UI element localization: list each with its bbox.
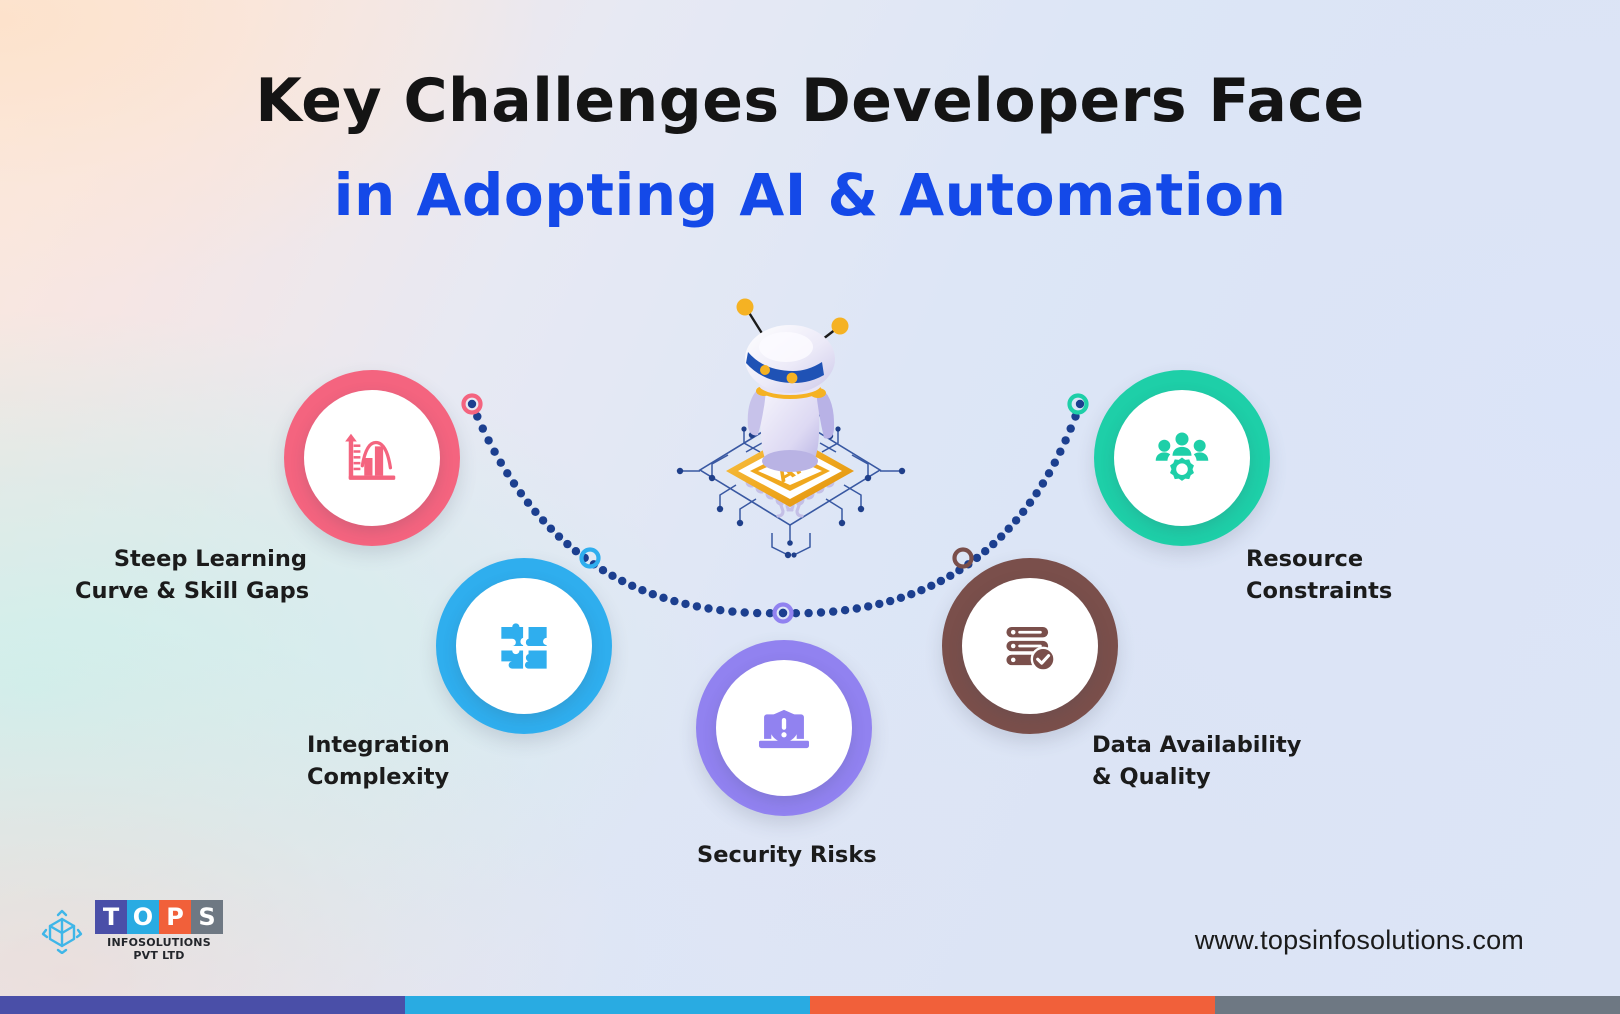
challenge-node-security-risks[interactable]: [696, 640, 872, 816]
node-icon-well-steep-learning-curve: [304, 390, 440, 526]
node-ring-security-risks: [696, 640, 872, 816]
node-label-steep-learning-curve: Steep LearningCurve & Skill Gaps: [75, 544, 307, 608]
team-gear-icon: [1153, 429, 1211, 487]
logo-letter-t: T: [95, 900, 127, 934]
label-line: Curve & Skill Gaps: [75, 576, 307, 608]
node-label-resource-constraints: ResourceConstraints: [1246, 544, 1398, 608]
logo-letter-o: O: [127, 900, 159, 934]
node-label-integration-complexity: IntegrationComplexity: [307, 730, 445, 794]
label-line: Steep Learning: [75, 544, 307, 576]
node-ring-data-availability-quality: [942, 558, 1118, 734]
challenge-node-data-availability-quality[interactable]: [942, 558, 1118, 734]
label-line: Resource: [1246, 544, 1398, 576]
laptop-shield-alert-icon: [755, 699, 813, 757]
logo-wordmark: TOPS: [95, 900, 223, 934]
database-check-icon: [1001, 617, 1059, 675]
footer-bar-segment-1: [0, 996, 405, 1014]
isometric-robot-on-ai-chip-illustration: AI: [640, 285, 940, 575]
bell-curve-chart-icon: [341, 427, 403, 489]
puzzle-pieces-icon: [495, 617, 553, 675]
footer-bar-segment-3: [810, 996, 1215, 1014]
logo-tagline: INFOSOLUTIONS PVT LTD: [95, 936, 223, 962]
label-line: Constraints: [1246, 576, 1398, 608]
label-line: Integration: [307, 730, 445, 762]
challenge-node-steep-learning-curve[interactable]: [284, 370, 460, 546]
website-url[interactable]: www.topsinfosolutions.com: [1195, 925, 1524, 956]
antenna-bulb-left: [737, 299, 754, 316]
node-icon-well-data-availability-quality: [962, 578, 1098, 714]
title-line-secondary: in Adopting AI & Automation: [0, 165, 1620, 226]
cube-arrows-icon: [40, 908, 84, 954]
footer-bar-segment-2: [405, 996, 810, 1014]
node-icon-well-resource-constraints: [1114, 390, 1250, 526]
page-title: Key Challenges Developers Face in Adopti…: [0, 70, 1620, 226]
label-line: Data Availability: [1092, 730, 1296, 762]
label-line: Complexity: [307, 762, 445, 794]
node-label-security-risks: Security Risks: [697, 840, 871, 872]
footer-color-bar: [0, 996, 1620, 1014]
node-ring-integration-complexity: [436, 558, 612, 734]
title-line-primary: Key Challenges Developers Face: [0, 70, 1620, 133]
challenge-node-integration-complexity[interactable]: [436, 558, 612, 734]
label-line: Security Risks: [697, 840, 871, 872]
challenge-node-resource-constraints[interactable]: [1094, 370, 1270, 546]
antenna-bulb-right: [832, 318, 849, 335]
label-line: & Quality: [1092, 762, 1296, 794]
company-logo[interactable]: TOPS INFOSOLUTIONS PVT LTD: [40, 900, 223, 962]
node-icon-well-security-risks: [716, 660, 852, 796]
node-label-data-availability-quality: Data Availability& Quality: [1092, 730, 1296, 794]
footer-bar-segment-4: [1215, 996, 1620, 1014]
logo-letter-s: S: [191, 900, 223, 934]
node-icon-well-integration-complexity: [456, 578, 592, 714]
node-ring-resource-constraints: [1094, 370, 1270, 546]
node-ring-steep-learning-curve: [284, 370, 460, 546]
logo-letter-p: P: [159, 900, 191, 934]
